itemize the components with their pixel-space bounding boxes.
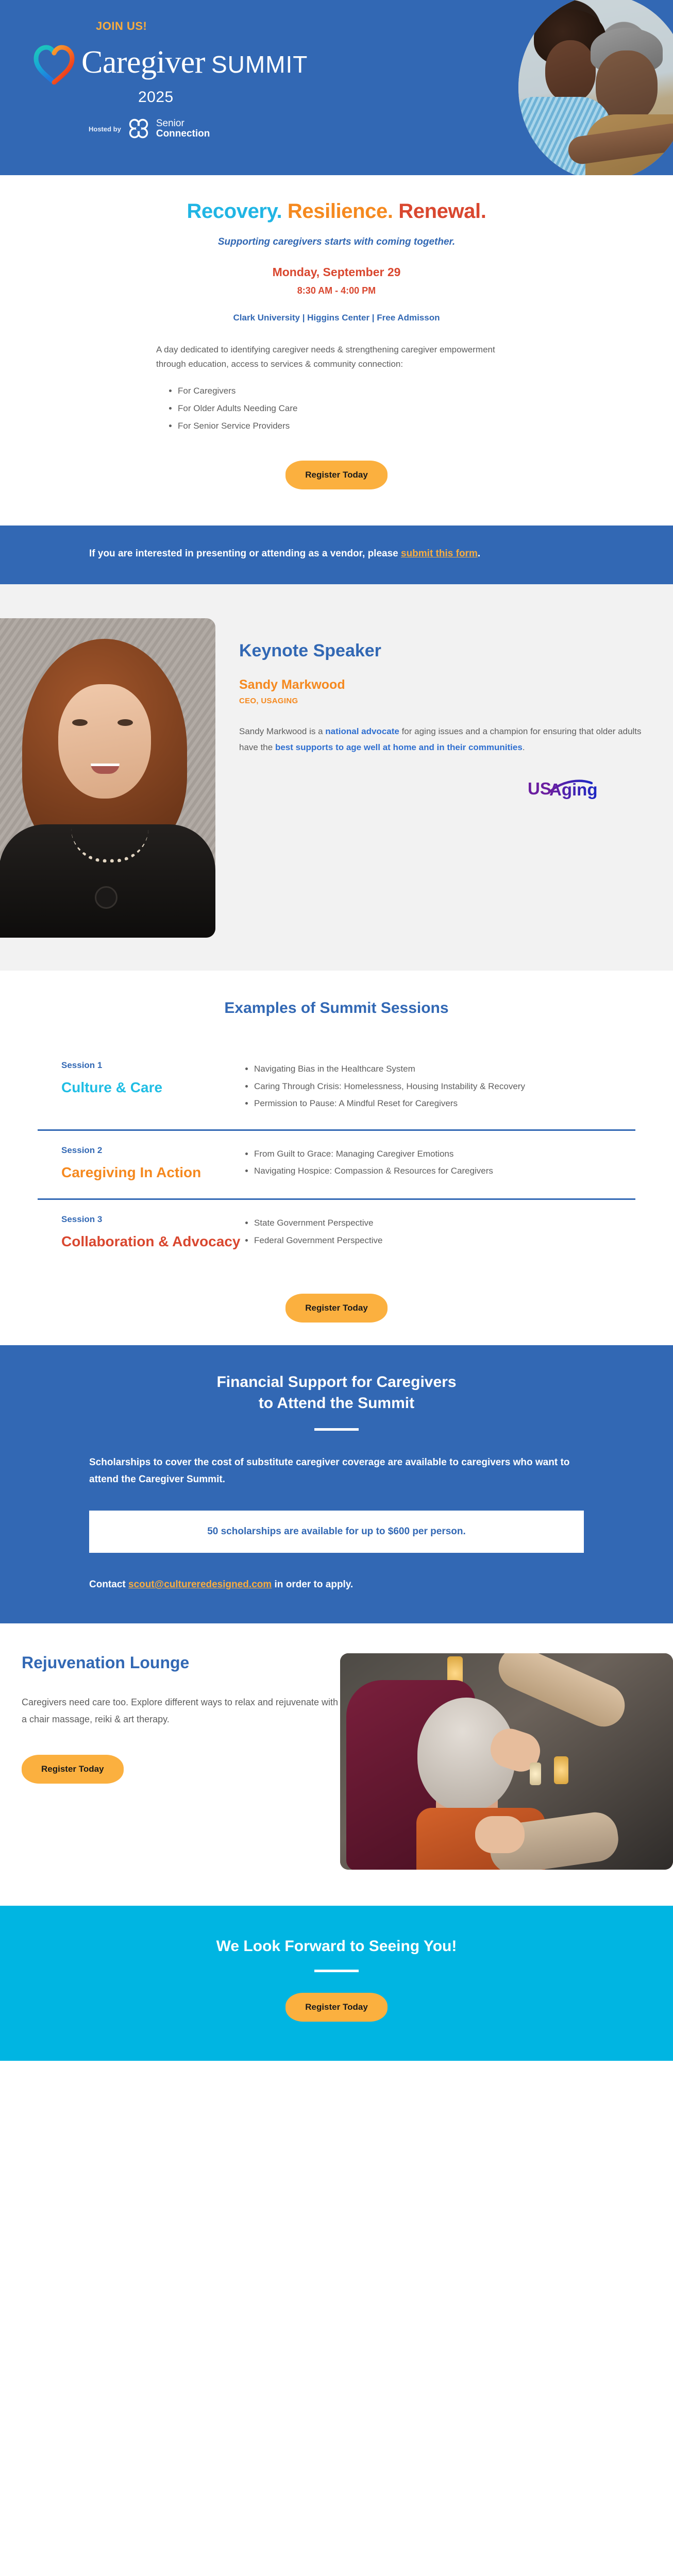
footer-heading: We Look Forward to Seeing You! xyxy=(0,1938,673,1955)
session-topic-list: Navigating Bias in the Healthcare System… xyxy=(254,1060,579,1111)
list-item: Permission to Pause: A Mindful Reset for… xyxy=(254,1095,579,1112)
session-row: Session 1 Culture & Care Navigating Bias… xyxy=(38,1046,635,1129)
list-item: State Government Perspective xyxy=(254,1214,579,1231)
register-today-button-footer[interactable]: Register Today xyxy=(285,1993,388,2022)
session-topic-list: State Government Perspective Federal Gov… xyxy=(254,1214,579,1248)
footer-section: We Look Forward to Seeing You! Register … xyxy=(0,1906,673,2061)
brand-name-caregiver: Caregiver xyxy=(81,46,205,78)
event-time: 8:30 AM - 4:00 PM xyxy=(0,285,673,296)
svg-text:US: US xyxy=(528,779,551,798)
divider-rule xyxy=(314,1970,359,1972)
heart-logo-icon xyxy=(32,43,76,84)
hero-banner: JOIN US! xyxy=(0,0,673,175)
brand-name-summit: SUMMIT xyxy=(211,53,308,76)
bio-highlight-1: national advocate xyxy=(325,726,399,736)
submit-this-form-link[interactable]: submit this form xyxy=(401,548,478,559)
bio-text-1: Sandy Markwood is a xyxy=(239,726,325,736)
brand-lockup: Caregiver SUMMIT xyxy=(32,40,673,84)
usaging-logo-icon: US Aging xyxy=(239,755,644,800)
divider-rule xyxy=(314,1428,359,1431)
register-cta-wrapper-top: Register Today xyxy=(0,435,673,512)
list-item: Navigating Bias in the Healthcare System xyxy=(254,1060,579,1077)
contact-text-after: in order to apply. xyxy=(272,1579,353,1590)
lounge-description: Caregivers need care too. Explore differ… xyxy=(22,1694,340,1728)
kicker-word-recovery: Recovery. xyxy=(187,200,282,223)
event-tagline: Supporting caregivers starts with coming… xyxy=(0,236,673,248)
kicker-word-renewal: Renewal. xyxy=(398,200,486,223)
vendor-text-before: If you are interested in presenting or a… xyxy=(89,548,401,559)
rejuvenation-lounge-section: Rejuvenation Lounge Caregivers need care… xyxy=(0,1623,673,1906)
list-item: For Older Adults Needing Care xyxy=(178,400,517,417)
keynote-speaker-section: Keynote Speaker Sandy Markwood CEO, USAG… xyxy=(0,584,673,971)
vendor-text-after: . xyxy=(478,548,480,559)
session-row: Session 2 Caregiving In Action From Guil… xyxy=(38,1129,635,1199)
lounge-heading: Rejuvenation Lounge xyxy=(22,1653,340,1672)
sessions-heading: Examples of Summit Sessions xyxy=(0,999,673,1017)
contact-text-before: Contact xyxy=(89,1579,128,1590)
keynote-heading: Keynote Speaker xyxy=(239,641,644,661)
bio-text-3: . xyxy=(523,742,525,752)
event-venue: Clark University | Higgins Center | Free… xyxy=(0,313,673,323)
scholarship-highlight-box: 50 scholarships are available for up to … xyxy=(89,1511,584,1553)
financial-support-heading: Financial Support for Caregivers to Atte… xyxy=(0,1372,673,1414)
register-cta-wrapper-sessions: Register Today xyxy=(0,1268,673,1345)
hosted-by-block: Hosted by Senior Connection xyxy=(89,117,673,140)
session-number: Session 3 xyxy=(61,1214,244,1225)
host-name-line-2: Connection xyxy=(156,129,210,139)
scholarship-description: Scholarships to cover the cost of substi… xyxy=(89,1454,584,1488)
register-today-button-lounge[interactable]: Register Today xyxy=(22,1755,124,1784)
event-description: A day dedicated to identifying caregiver… xyxy=(156,343,517,371)
session-title: Culture & Care xyxy=(61,1079,244,1096)
join-us-kicker: JOIN US! xyxy=(96,20,673,33)
host-name-line-1: Senior xyxy=(156,118,210,129)
event-description-block: A day dedicated to identifying caregiver… xyxy=(156,343,517,435)
register-today-button-top[interactable]: Register Today xyxy=(285,461,388,489)
chair-massage-photo xyxy=(340,1653,673,1870)
speaker-bio: Sandy Markwood is a national advocate fo… xyxy=(239,724,644,755)
list-item: For Senior Service Providers xyxy=(178,417,517,435)
scholarship-email-link[interactable]: scout@cultureredesigned.com xyxy=(128,1579,272,1590)
event-kicker-headline: Recovery. Resilience. Renewal. xyxy=(0,200,673,223)
senior-connection-logo-icon xyxy=(127,117,150,140)
email-newsletter-page: JOIN US! xyxy=(0,0,673,2061)
session-number: Session 1 xyxy=(61,1060,244,1071)
scholarship-contact-line: Contact scout@cultureredesigned.com in o… xyxy=(89,1577,584,1594)
event-date: Monday, September 29 xyxy=(0,265,673,279)
financial-support-section: Financial Support for Caregivers to Atte… xyxy=(0,1345,673,1623)
financial-heading-line-2: to Attend the Summit xyxy=(259,1395,414,1412)
list-item: Navigating Hospice: Compassion & Resourc… xyxy=(254,1162,579,1179)
register-today-button-sessions[interactable]: Register Today xyxy=(285,1294,388,1323)
vendor-callout-text: If you are interested in presenting or a… xyxy=(89,546,584,562)
bio-highlight-2: best supports to age well at home and in… xyxy=(275,742,523,752)
session-title: Collaboration & Advocacy xyxy=(61,1233,244,1250)
kicker-word-resilience: Resilience. xyxy=(288,200,393,223)
hosted-by-label: Hosted by xyxy=(89,125,121,133)
session-title: Caregiving In Action xyxy=(61,1164,244,1181)
audience-list: For Caregivers For Older Adults Needing … xyxy=(178,382,517,435)
intro-section: Recovery. Resilience. Renewal. Supportin… xyxy=(0,175,673,526)
speaker-name: Sandy Markwood xyxy=(239,677,644,692)
speaker-title: CEO, USAGING xyxy=(239,697,644,705)
scholarship-highlight-text: 50 scholarships are available for up to … xyxy=(207,1526,466,1537)
vendor-callout-section: If you are interested in presenting or a… xyxy=(0,526,673,584)
list-item: Federal Government Perspective xyxy=(254,1232,579,1249)
session-row: Session 3 Collaboration & Advocacy State… xyxy=(38,1198,635,1268)
session-topic-list: From Guilt to Grace: Managing Caregiver … xyxy=(254,1145,579,1179)
list-item: For Caregivers xyxy=(178,382,517,400)
speaker-portrait-photo xyxy=(0,618,215,938)
sessions-section: Examples of Summit Sessions Session 1 Cu… xyxy=(0,971,673,1345)
list-item: From Guilt to Grace: Managing Caregiver … xyxy=(254,1145,579,1162)
event-year: 2025 xyxy=(138,89,673,106)
financial-heading-line-1: Financial Support for Caregivers xyxy=(216,1374,456,1391)
session-number: Session 2 xyxy=(61,1145,244,1156)
list-item: Caring Through Crisis: Homelessness, Hou… xyxy=(254,1078,579,1095)
